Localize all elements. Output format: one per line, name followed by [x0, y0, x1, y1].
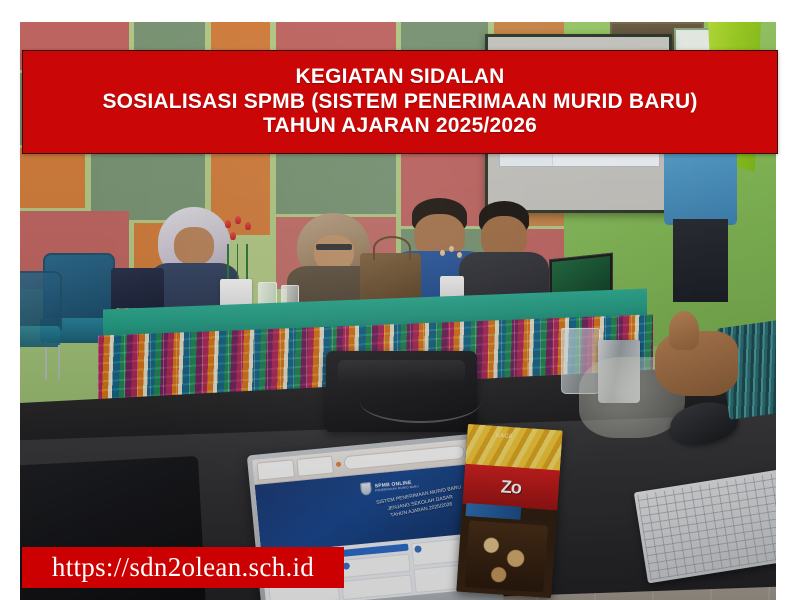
title-banner: KEGIATAN SIDALAN SOSIALISASI SPMB (SISTE…	[22, 50, 778, 154]
hand-thumbs-up	[647, 311, 745, 403]
url-watermark: https://sdn2olean.sch.id	[22, 547, 344, 588]
snack-brand: Zo	[501, 478, 522, 496]
snack-tagline: KACA	[496, 432, 514, 439]
title-line-1: KEGIATAN SIDALAN	[296, 65, 505, 90]
title-line-2: SOSIALISASI SPMB (SISTEM PENERIMAAN MURI…	[102, 90, 697, 115]
cable	[360, 380, 481, 422]
crest-icon	[361, 482, 373, 496]
title-line-3: TAHUN AJARAN 2025/2026	[263, 114, 537, 139]
blue-chair-secondary	[20, 271, 58, 369]
snack-package: KACA Zo	[457, 424, 563, 598]
website-url: https://sdn2olean.sch.id	[52, 552, 314, 583]
